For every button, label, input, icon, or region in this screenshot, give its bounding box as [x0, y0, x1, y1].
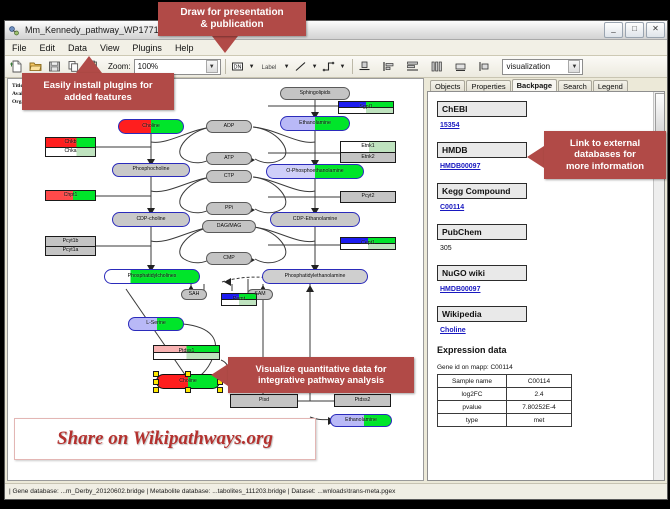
window-title-bar: Mm_Kennedy_pathway_WP1771_45176.gpml _ □… — [5, 21, 667, 40]
gene-pcyt2[interactable]: Pcyt2 — [340, 191, 396, 203]
selection-handle-sw[interactable] — [153, 387, 159, 393]
callout-line-2: added features — [43, 92, 152, 103]
cell-key: pvalue — [438, 401, 507, 414]
gene-cept1[interactable]: Cept1 — [340, 243, 396, 250]
menu-item-plugins[interactable]: Plugins — [130, 43, 164, 53]
callout-draw-for-presentation: Draw for presentation & publication — [158, 2, 306, 36]
label-dropdown-icon[interactable]: ▼ — [284, 64, 290, 70]
node-label: Choline — [179, 379, 197, 384]
section-heading-pubchem: PubChem — [437, 224, 527, 240]
app-icon — [8, 24, 20, 36]
menu-item-file[interactable]: File — [10, 43, 29, 53]
gene-label: Etnk1 — [361, 144, 374, 149]
group-icon[interactable] — [453, 59, 468, 74]
expression-data-title: Expression data — [437, 345, 654, 355]
link-chebi[interactable]: 15354 — [440, 122, 654, 129]
node-cdp-ethanolamine[interactable]: CDP-Ethanolamine — [270, 212, 360, 227]
gene-label: Pcyt1b — [63, 239, 79, 244]
section-heading-nugo-wiki: NuGO wiki — [437, 265, 527, 281]
node-label: ATP — [224, 156, 234, 161]
gene-chpt1[interactable]: Chpt1 — [45, 190, 96, 201]
distribute-horizontal-icon[interactable] — [429, 59, 444, 74]
callout-line-2: & publication — [180, 19, 283, 31]
node-label: O-Phosphoethanolamine — [286, 169, 343, 174]
node-label: CDP-choline — [136, 217, 165, 222]
selection-handle-n[interactable] — [185, 371, 191, 377]
backpage-scrollbar-thumb[interactable] — [655, 93, 665, 133]
link-wikipedia[interactable]: Choline — [440, 327, 654, 334]
callout-line-1: Link to external — [566, 138, 644, 149]
node-sah[interactable]: SAH — [181, 289, 207, 300]
table-row: pvalue 7.80252E-4 — [438, 401, 572, 414]
connector-dropdown-icon[interactable]: ▼ — [340, 64, 346, 70]
gene-pemt[interactable]: Pemt — [221, 299, 257, 306]
line-icon[interactable] — [293, 59, 308, 74]
cell-value: 2.4 — [507, 388, 572, 401]
menu-bar: File Edit Data View Plugins Help — [5, 40, 667, 56]
new-file-icon[interactable] — [9, 59, 24, 74]
status-bar: | Gene database: ...m_Derby_20120602.bri… — [5, 483, 667, 499]
visualization-value: visualization — [506, 62, 550, 71]
maximize-button[interactable]: □ — [625, 22, 644, 38]
node-label: Ethanolamine — [345, 418, 377, 423]
gene-label: Ptdss2 — [355, 398, 371, 403]
cell-key: log2FC — [438, 388, 507, 401]
table-row: log2FC 2.4 — [438, 388, 572, 401]
gene-label: Ptdss1 — [179, 349, 195, 354]
svg-text:DN: DN — [233, 65, 241, 71]
menu-item-edit[interactable]: Edit — [38, 43, 58, 53]
value-pubchem: 305 — [440, 245, 654, 252]
gene-pisd[interactable]: Pisd — [230, 394, 298, 408]
node-ethanolamine-top[interactable]: Ethanolamine — [280, 116, 350, 131]
gene-etnk2[interactable]: Etnk2 — [340, 152, 396, 163]
connector-icon[interactable] — [321, 59, 336, 74]
node-phosphocholine[interactable]: Phosphocholine — [112, 163, 190, 177]
gene-etnk1[interactable]: Etnk1 — [340, 141, 396, 152]
toolbar-separator — [225, 59, 226, 74]
chevron-down-icon[interactable]: ▼ — [206, 60, 218, 73]
callout-link-to-external-databases: Link to external databases for more info… — [544, 131, 666, 179]
node-label: DAG/MAG — [217, 224, 242, 229]
table-row: type met — [438, 414, 572, 427]
gene-label: Pcyt1a — [63, 248, 79, 253]
callout-arrow-down-draw — [212, 36, 238, 53]
node-phosphatidylethanolamine[interactable]: Phosphatidylethanolamine — [262, 269, 368, 284]
label-icon[interactable]: Label — [258, 59, 280, 74]
callout-arrow-left-links — [527, 146, 544, 168]
menu-item-help[interactable]: Help — [173, 43, 196, 53]
node-o-phosphoethanolamine[interactable]: O-Phosphoethanolamine — [266, 164, 364, 179]
expression-table: Sample name C00114 log2FC 2.4 pvalue 7.8… — [437, 374, 572, 427]
callout-line-2: databases for — [566, 149, 644, 160]
node-label: L-Serine — [146, 321, 166, 326]
menu-item-data[interactable]: Data — [66, 43, 89, 53]
selection-handle-se[interactable] — [217, 387, 223, 393]
status-text: | Gene database: ...m_Derby_20120602.bri… — [9, 488, 395, 495]
line-dropdown-icon[interactable]: ▼ — [312, 64, 318, 70]
node-label: SAM — [254, 292, 265, 297]
section-heading-hmdb: HMDB — [437, 142, 527, 158]
gene-label: Pcyt2 — [362, 194, 375, 199]
node-label: CTP — [224, 174, 234, 179]
gene-pcyt1a[interactable]: Pcyt1a — [45, 246, 96, 256]
node-ppi[interactable]: PPi — [206, 202, 252, 215]
cell-key: type — [438, 414, 507, 427]
node-adp[interactable]: ADP — [206, 120, 252, 133]
node-label: Phosphatidylcholines — [128, 274, 177, 279]
gene-label: Chpt1 — [64, 193, 78, 198]
gene-chka[interactable]: Chka — [45, 147, 96, 157]
cell-value: C00114 — [507, 375, 572, 388]
node-dag-mag[interactable]: DAG/MAG — [202, 220, 256, 233]
node-label: PPi — [225, 206, 233, 211]
gene-label: Chkb — [64, 140, 76, 145]
node-label: Sphingolipids — [300, 91, 331, 96]
gene-sgpl1[interactable]: Sgpl1 — [338, 107, 394, 114]
zoom-label: Zoom: — [108, 62, 131, 71]
table-row: Sample name C00114 — [438, 375, 572, 388]
selection-handle-s[interactable] — [185, 387, 191, 393]
datanode-icon[interactable]: DN — [230, 59, 245, 74]
node-label: CDP-Ethanolamine — [293, 217, 337, 222]
node-label: ADP — [224, 124, 235, 129]
order-icon[interactable] — [477, 59, 492, 74]
node-label: Phosphatidylethanolamine — [285, 274, 346, 279]
gene-id-line: Gene id on mapp: C00114 — [437, 364, 654, 371]
node-phosphatidylcholines[interactable]: Phosphatidylcholines — [104, 269, 200, 284]
cell-value: 7.80252E-4 — [507, 401, 572, 414]
gene-label: Chka — [64, 149, 76, 154]
share-text: Share on Wikipathways.org — [57, 428, 273, 450]
section-heading-wikipedia: Wikipedia — [437, 306, 527, 322]
node-choline-top[interactable]: Choline — [118, 119, 184, 134]
node-cdp-choline[interactable]: CDP-choline — [112, 212, 190, 227]
callout-arrow-up-plugins — [76, 56, 102, 73]
gene-label: Sgpl1 — [359, 105, 372, 110]
callout-line-1: Easily install plugins for — [43, 80, 152, 91]
section-heading-kegg-compound: Kegg Compound — [437, 183, 527, 199]
gene-label: Pisd — [259, 398, 269, 403]
node-label: CMP — [223, 256, 235, 261]
toolbar-separator-2 — [352, 59, 353, 74]
callout-share-on-wikipathways: Share on Wikipathways.org — [14, 418, 316, 460]
callout-line-3: more information — [566, 161, 644, 172]
gene-label: Etnk2 — [361, 155, 374, 160]
gene-pcyt1b[interactable]: Pcyt1b — [45, 236, 96, 246]
align-top-icon[interactable] — [357, 59, 372, 74]
close-button[interactable]: ✕ — [646, 22, 665, 38]
zoom-value: 100% — [138, 62, 158, 71]
node-ethanolamine-right[interactable]: Ethanolamine — [330, 414, 392, 427]
cell-key: Sample name — [438, 375, 507, 388]
node-l-serine-left[interactable]: L-Serine — [128, 317, 184, 331]
node-label: Phosphocholine — [133, 167, 170, 172]
svg-text:Label: Label — [261, 65, 276, 71]
datanode-dropdown-icon[interactable]: ▼ — [249, 64, 255, 70]
callout-line-1: Visualize quantitative data for — [255, 364, 386, 375]
link-kegg-compound[interactable]: C00114 — [440, 204, 654, 211]
visualization-chevron-down-icon[interactable]: ▼ — [568, 60, 580, 73]
gene-label: Cept1 — [361, 241, 375, 246]
callout-visualize-quantitative-data: Visualize quantitative data for integrat… — [228, 357, 414, 393]
open-folder-icon[interactable] — [28, 59, 43, 74]
node-ctp[interactable]: CTP — [206, 170, 252, 183]
menu-item-view[interactable]: View — [98, 43, 121, 53]
cell-value: met — [507, 414, 572, 427]
window-controls: _ □ ✕ — [604, 22, 665, 38]
gene-label: Pemt — [233, 297, 245, 302]
selection-handle-w[interactable] — [153, 379, 159, 385]
node-sphingolipids[interactable]: Sphingolipids — [280, 87, 350, 100]
link-nugo-wiki[interactable]: HMDB00097 — [440, 286, 654, 293]
save-disk-icon[interactable] — [47, 59, 62, 74]
section-heading-chebi: ChEBI — [437, 101, 527, 117]
gene-ptdss1[interactable]: Ptdss1 — [153, 352, 220, 360]
visualization-combo[interactable]: visualization ▼ — [502, 59, 583, 75]
callout-line-2: integrative pathway analysis — [255, 375, 386, 386]
callout-line-1: Draw for presentation — [180, 7, 283, 19]
align-left-icon[interactable] — [381, 59, 396, 74]
callout-easily-install-plugins: Easily install plugins for added feature… — [22, 73, 174, 110]
callout-arrow-left-visualize — [211, 364, 228, 386]
node-label: Ethanolamine — [299, 121, 331, 126]
node-label: SAH — [189, 292, 200, 297]
sidebar-tabs: Objects Properties Backpage Search Legen… — [427, 78, 665, 92]
distribute-vertical-icon[interactable] — [405, 59, 420, 74]
gene-chkb[interactable]: Chkb — [45, 137, 96, 147]
gene-ptdss2[interactable]: Ptdss2 — [334, 394, 391, 407]
selection-handle-nw[interactable] — [153, 371, 159, 377]
node-label: Choline — [142, 124, 160, 129]
minimize-button[interactable]: _ — [604, 22, 623, 38]
node-cmp[interactable]: CMP — [206, 252, 252, 265]
node-atp[interactable]: ATP — [206, 152, 252, 165]
screenshot-root: Mm_Kennedy_pathway_WP1771_45176.gpml _ □… — [0, 0, 670, 509]
